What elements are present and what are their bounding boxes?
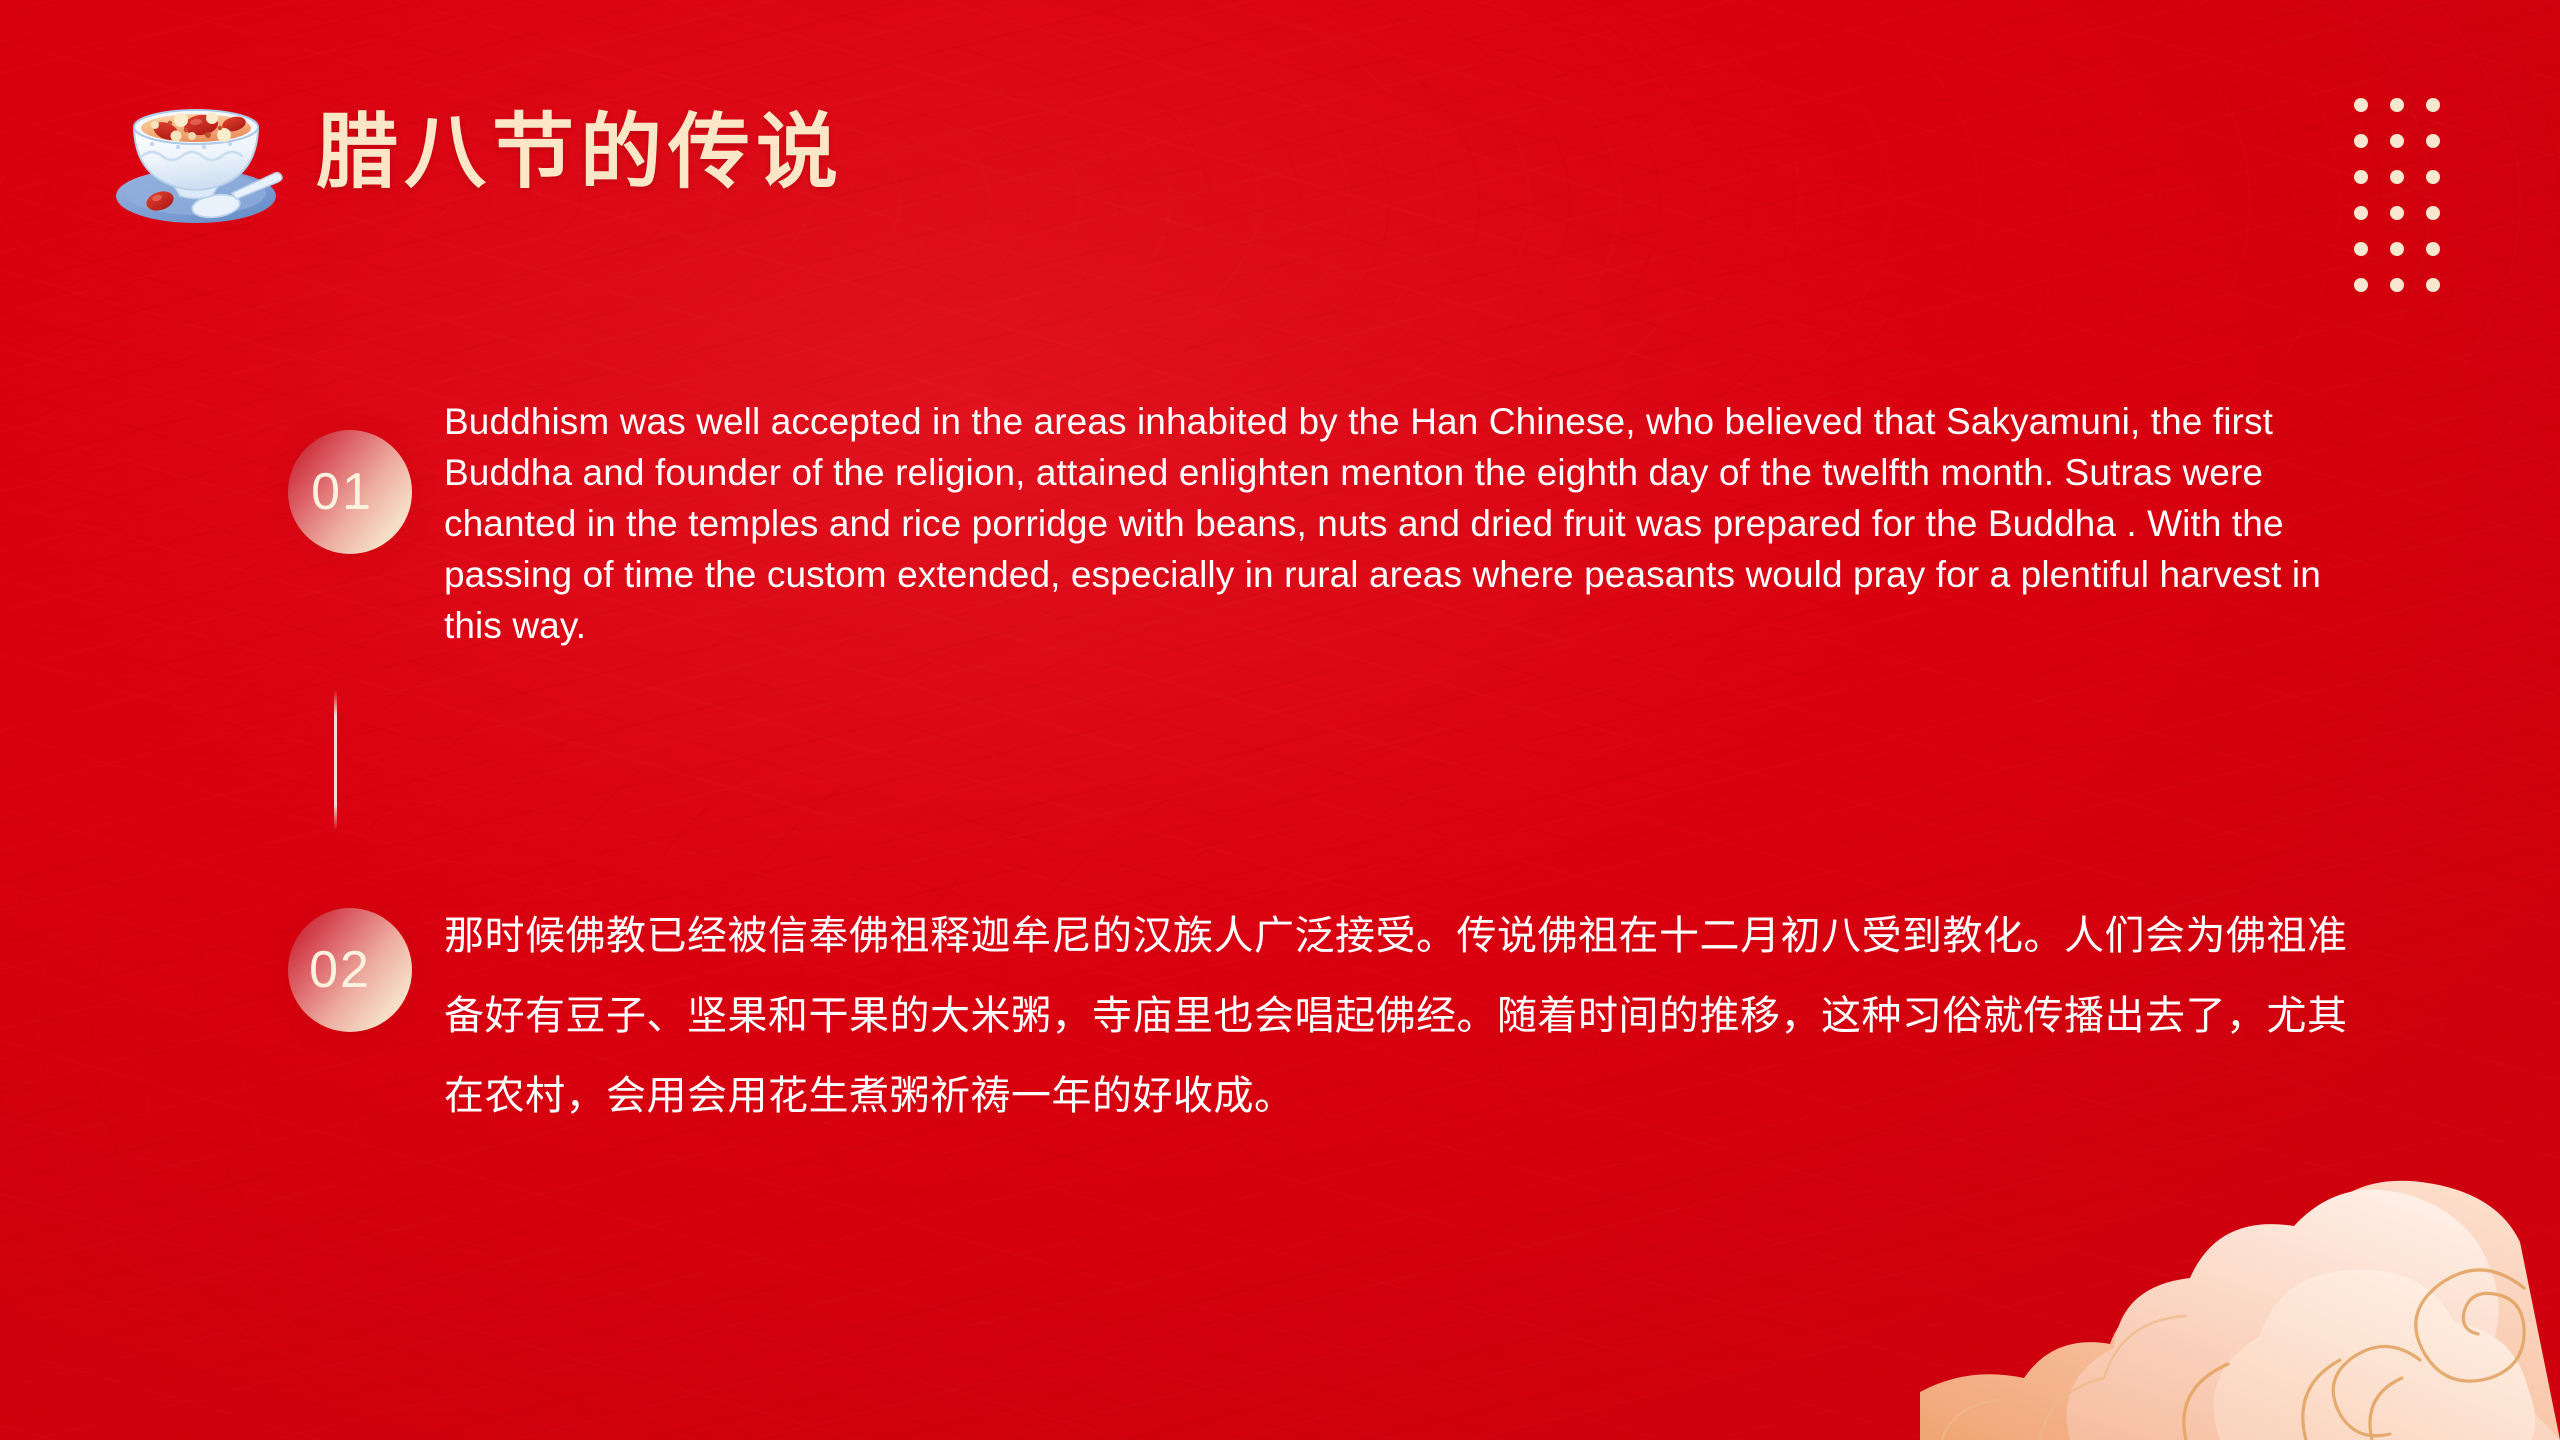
- grid-dot: [2390, 242, 2404, 256]
- grid-dot: [2354, 206, 2368, 220]
- grid-dot: [2390, 278, 2404, 292]
- grid-dot: [2354, 170, 2368, 184]
- section-number-label: 02: [309, 944, 371, 996]
- section-number-badge-01: 01: [288, 430, 412, 554]
- slide-header: 腊八节的传说: [108, 78, 844, 228]
- grid-dot: [2390, 206, 2404, 220]
- section-number-label: 01: [311, 466, 373, 518]
- grid-dot: [2426, 206, 2440, 220]
- grid-dot: [2390, 98, 2404, 112]
- grid-dot: [2354, 242, 2368, 256]
- dot-grid-ornament: [2354, 98, 2440, 292]
- grid-dot: [2426, 278, 2440, 292]
- grid-dot: [2426, 170, 2440, 184]
- content-section-01: 01 Buddhism was well accepted in the are…: [288, 430, 2344, 688]
- grid-dot: [2426, 98, 2440, 112]
- grid-dot: [2354, 278, 2368, 292]
- grid-dot: [2426, 134, 2440, 148]
- page-title: 腊八节的传说: [316, 112, 844, 194]
- section-paragraph-chinese: 那时候佛教已经被信奉佛祖释迦牟尼的汉族人广泛接受。传说佛祖在十二月初八受到教化。…: [444, 896, 2354, 1136]
- slide-canvas: 腊八节的传说 01 Buddhism was well accepted in …: [0, 0, 2560, 1440]
- grid-dot: [2354, 98, 2368, 112]
- grid-dot: [2426, 242, 2440, 256]
- grid-dot: [2354, 134, 2368, 148]
- content-section-02: 02 那时候佛教已经被信奉佛祖释迦牟尼的汉族人广泛接受。传说佛祖在十二月初八受到…: [288, 908, 2354, 1176]
- grid-dot: [2390, 134, 2404, 148]
- section-number-badge-02: 02: [288, 908, 412, 1032]
- grid-dot: [2390, 170, 2404, 184]
- laba-porridge-bowl-icon: [108, 78, 290, 228]
- section-paragraph-english: Buddhism was well accepted in the areas …: [444, 396, 2344, 651]
- section-connector-line: [334, 690, 337, 830]
